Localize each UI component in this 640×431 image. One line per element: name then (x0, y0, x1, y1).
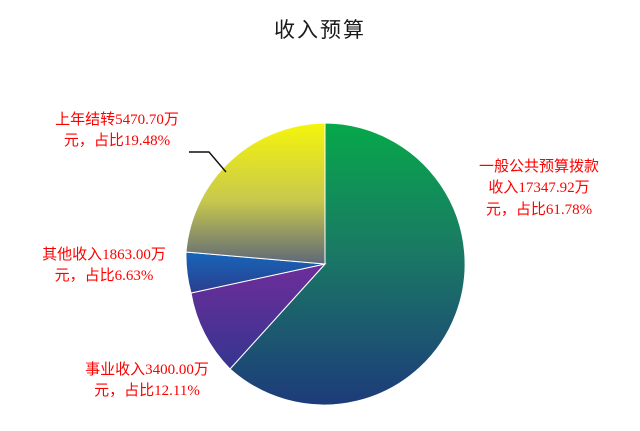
pie-label-general-public-budget: 一般公共预算拨款 收入17347.92万 元，占比61.78% (444, 157, 634, 221)
label-line: 收入17347.92万 (444, 178, 634, 199)
label-line: 元，占比19.48% (22, 131, 212, 152)
label-line: 事业收入3400.00万 (52, 360, 242, 381)
label-line: 其他收入1863.00万 (8, 245, 200, 266)
leader-line-carryover (189, 152, 226, 172)
pie-label-other-income: 其他收入1863.00万 元，占比6.63% (8, 245, 200, 288)
label-line: 一般公共预算拨款 (444, 157, 634, 178)
pie-chart-figure: 收入预算 (0, 0, 640, 431)
label-line: 上年结转5470.70万 (22, 110, 212, 131)
pie-label-prior-year-carryover: 上年结转5470.70万 元，占比19.48% (22, 110, 212, 153)
label-line: 元，占比6.63% (8, 266, 200, 287)
label-line: 元，占比12.11% (52, 381, 242, 402)
label-line: 元，占比61.78% (444, 200, 634, 221)
pie-label-business-income: 事业收入3400.00万 元，占比12.11% (52, 360, 242, 403)
